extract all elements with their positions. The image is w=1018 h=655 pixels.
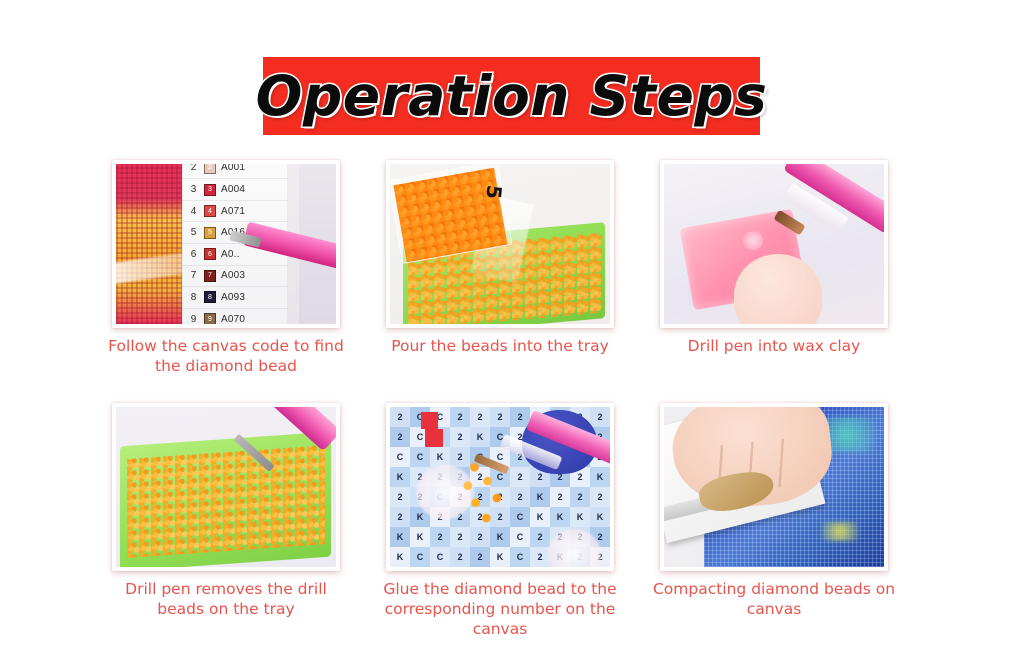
color-code-swatch: 2 [204, 164, 216, 174]
page-root: Operation Steps 22A00133A00444A07155A016… [0, 0, 1018, 655]
step-item-5: 2CC222222222CK2KC22222CCK2CC22222K2222C2… [374, 403, 626, 640]
canvas-symbol-cell: 2 [470, 407, 490, 427]
step-item-2: 5 Pour the beads into the tray [374, 160, 626, 397]
canvas-code-chart-photo: 22A00133A00444A07155A01666A0..77A00388A0… [116, 164, 336, 324]
step-photo-frame-5: 2CC222222222CK2KC22222CCK2CC22222K2222C2… [386, 403, 614, 571]
canvas-symbol-cell: C [430, 547, 450, 567]
step-photo-frame-6 [660, 403, 888, 571]
step-caption-3: Drill pen into wax clay [649, 337, 899, 357]
canvas-symbol-cell: 2 [390, 407, 410, 427]
canvas-yellow-area [822, 522, 857, 541]
red-symbol-cell [425, 429, 443, 447]
color-code-swatch: 4 [204, 205, 216, 217]
step-caption-6: Compacting diamond beads on canvas [649, 580, 899, 620]
color-code-label: A070 [221, 314, 245, 324]
color-code-number: 9 [188, 314, 199, 324]
canvas-symbol-cell: K [390, 547, 410, 567]
bag-label-mark: 5 [481, 184, 506, 200]
color-code-row: 22A001 [182, 164, 288, 179]
color-code-label: A003 [221, 270, 245, 281]
step-item-1: 22A00133A00444A07155A01666A0..77A00388A0… [100, 160, 352, 397]
color-code-row: 88A093 [182, 287, 288, 309]
canvas-symbol-cell: 2 [530, 547, 550, 567]
color-code-label: A001 [221, 164, 245, 173]
step-caption-5: Glue the diamond bead to the correspondi… [375, 580, 625, 639]
canvas-symbol-cell: K [550, 507, 570, 527]
color-code-swatch: 3 [204, 184, 216, 196]
canvas-symbol-cell: K [590, 507, 610, 527]
color-code-number: 4 [188, 206, 199, 217]
canvas-symbol-cell: K [570, 507, 590, 527]
color-code-row: 44A071 [182, 201, 288, 223]
color-code-row: 99A070 [182, 309, 288, 324]
color-code-number: 2 [188, 164, 199, 173]
glue-bead-to-canvas-photo: 2CC222222222CK2KC22222CCK2CC22222K2222C2… [390, 407, 610, 567]
canvas-symbol-cell: C [510, 547, 530, 567]
color-code-label: A093 [221, 292, 245, 303]
canvas-symbol-cell: 2 [590, 487, 610, 507]
canvas-symbol-cell: K [470, 427, 490, 447]
steps-grid: 22A00133A00444A07155A01666A0..77A00388A0… [100, 160, 900, 640]
step-item-6: Compacting diamond beads on canvas [648, 403, 900, 640]
pour-beads-into-tray-photo: 5 [390, 164, 610, 324]
canvas-symbol-cell: K [390, 467, 410, 487]
color-code-number: 7 [188, 270, 199, 281]
beads-in-bag [394, 168, 507, 263]
color-code-label: A0.. [221, 249, 240, 260]
step-photo-frame-1: 22A00133A00444A07155A01666A0..77A00388A0… [112, 160, 340, 328]
compacting-beads-photo [664, 407, 884, 567]
color-code-number: 8 [188, 292, 199, 303]
color-code-label: A004 [221, 184, 245, 195]
canvas-symbol-cell: 2 [430, 527, 450, 547]
step-caption-4: Drill pen removes the drill beads on the… [101, 580, 351, 620]
color-code-number: 5 [188, 227, 199, 238]
color-code-label: A071 [221, 206, 245, 217]
partial-canvas-strip [116, 164, 184, 324]
color-code-swatch: 7 [204, 270, 216, 282]
step-item-3: Drill pen into wax clay [648, 160, 900, 397]
color-code-row: 33A004 [182, 179, 288, 201]
orange-beads-cluster [456, 458, 522, 535]
color-code-swatch: 9 [204, 313, 216, 324]
canvas-symbol-cell: K [410, 527, 430, 547]
page-title: Operation Steps [256, 69, 768, 124]
step-photo-frame-4 [112, 403, 340, 571]
canvas-symbol-cell: 2 [590, 407, 610, 427]
color-code-number: 3 [188, 184, 199, 195]
canvas-symbol-cell: C [410, 447, 430, 467]
canvas-symbol-cell: 2 [390, 487, 410, 507]
canvas-symbol-cell: 2 [550, 487, 570, 507]
canvas-symbol-cell: 2 [390, 427, 410, 447]
canvas-symbol-cell: 2 [390, 507, 410, 527]
canvas-symbol-cell: C [410, 547, 430, 567]
beads-in-tray [127, 445, 325, 558]
step-photo-frame-2: 5 [386, 160, 614, 328]
canvas-symbol-cell: 2 [530, 527, 550, 547]
title-banner: Operation Steps [263, 57, 760, 135]
canvas-symbol-cell: 2 [570, 487, 590, 507]
red-symbol-cell [421, 412, 439, 430]
canvas-symbol-cell: K [490, 547, 510, 567]
step-caption-1: Follow the canvas code to find the diamo… [101, 337, 351, 377]
canvas-symbol-cell: 2 [450, 407, 470, 427]
canvas-symbol-cell: K [530, 487, 550, 507]
canvas-symbol-cell: 2 [450, 547, 470, 567]
color-code-number: 6 [188, 249, 199, 260]
step-photo-frame-3 [660, 160, 888, 328]
step-item-4: Drill pen removes the drill beads on the… [100, 403, 352, 640]
color-code-swatch: 8 [204, 291, 216, 303]
canvas-symbol-cell: K [530, 507, 550, 527]
color-code-swatch: 5 [204, 227, 216, 239]
title-banner-background: Operation Steps [263, 57, 760, 135]
step-caption-2: Pour the beads into the tray [375, 337, 625, 357]
drill-pen-into-wax-photo [664, 164, 884, 324]
color-code-swatch: 6 [204, 248, 216, 260]
canvas-symbol-cell: K [390, 527, 410, 547]
drill-pen-removes-beads-photo [116, 407, 336, 567]
canvas-symbol-cell: 2 [450, 427, 470, 447]
canvas-symbol-cell: K [590, 467, 610, 487]
color-code-row: 77A003 [182, 266, 288, 288]
canvas-symbol-cell: 2 [470, 547, 490, 567]
canvas-symbol-cell: K [430, 447, 450, 467]
canvas-symbol-cell: 2 [490, 407, 510, 427]
canvas-symbol-cell: C [390, 447, 410, 467]
